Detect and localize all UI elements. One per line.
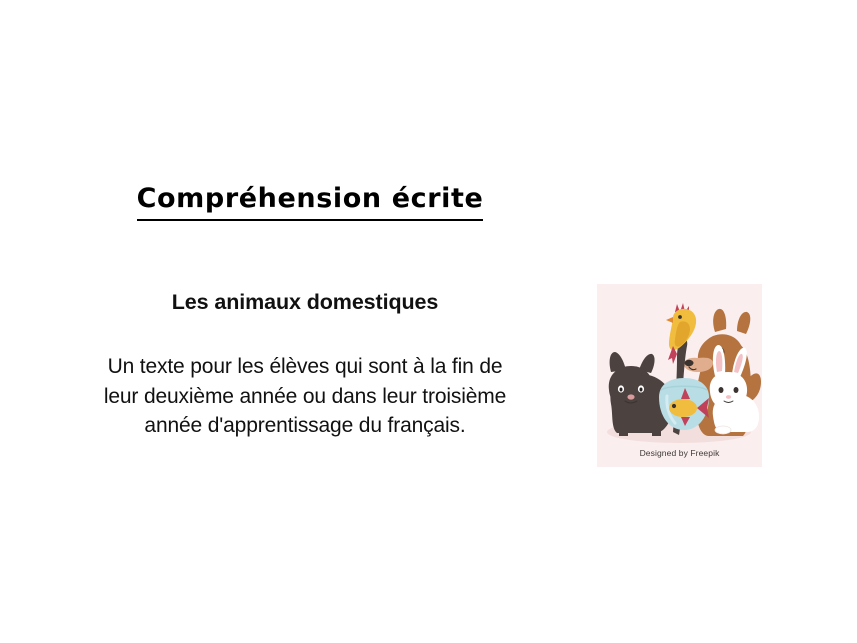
body-line-2: leur deuxième année ou dans leur troisiè…	[22, 382, 588, 412]
body-line-3: année d'apprentissage du français.	[22, 411, 588, 441]
body-line-1: Un texte pour les élèves qui sont à la f…	[22, 352, 588, 382]
pets-illustration: Designed by Freepik	[597, 284, 762, 467]
body-paragraph: Un texte pour les élèves qui sont à la f…	[22, 352, 588, 441]
text-column: Les animaux domestiques Un texte pour le…	[22, 290, 588, 441]
subtitle: Les animaux domestiques	[22, 290, 588, 316]
slide-canvas: Compréhension écrite Les animaux domesti…	[0, 0, 857, 643]
page-title-text: Compréhension écrite	[137, 183, 484, 221]
pets-illustration-graphic	[597, 284, 762, 467]
freepik-credit: Designed by Freepik	[597, 448, 762, 458]
page-title: Compréhension écrite	[0, 183, 620, 221]
